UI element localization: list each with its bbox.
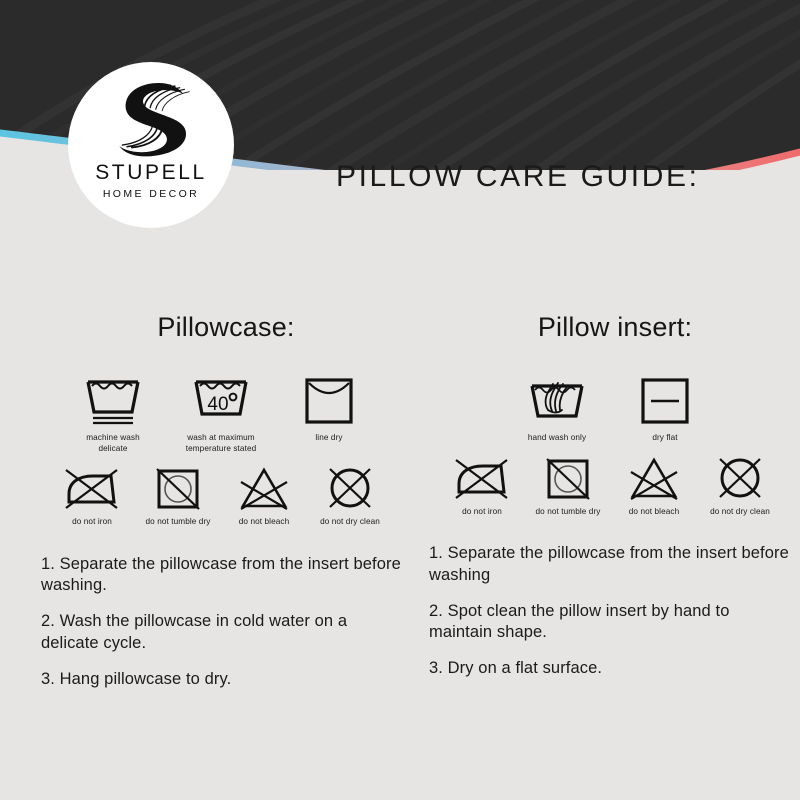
step-item: 1. Separate the pillowcase from the inse…: [429, 543, 797, 587]
care-icon-do-not-bleach: do not bleach: [225, 466, 303, 528]
do-not-iron-icon: [453, 456, 511, 502]
care-icon-line-dry: line dry: [286, 374, 372, 444]
do-not-bleach-icon: [237, 466, 291, 512]
machine-wash-delicate-icon: [82, 374, 144, 426]
icon-row-primary-pillowcase: machine wash delicate 40 wash at maximum…: [35, 374, 407, 454]
care-icon-do-not-dry-clean: do not dry clean: [311, 466, 389, 528]
page-title: PILLOW CARE GUIDE:: [336, 160, 700, 194]
do-not-iron-icon: [63, 466, 121, 512]
step-item: 3. Dry on a flat surface.: [429, 658, 797, 680]
care-icon-label: do not bleach: [239, 517, 289, 528]
care-icon-machine-wash-delicate: machine wash delicate: [70, 374, 156, 454]
do-not-dry-clean-icon: [714, 456, 766, 502]
care-icon-do-not-tumble-dry: do not tumble dry: [529, 456, 607, 518]
section-pillow-insert: Pillow insert: hand wash only: [425, 312, 797, 694]
steps-pillowcase: 1. Separate the pillowcase from the inse…: [35, 554, 407, 691]
care-icon-dry-flat: dry flat: [622, 374, 708, 444]
care-icon-label: do not dry clean: [710, 507, 770, 518]
icon-row-primary-insert: hand wash only dry flat: [425, 374, 797, 444]
care-icon-label: do not iron: [72, 517, 112, 528]
dry-flat-icon: [637, 374, 693, 426]
icon-row-secondary-insert: do not iron do not tumble dry do not ble…: [425, 456, 797, 518]
stupell-swoosh-logo-icon: [103, 79, 199, 157]
care-icon-do-not-tumble-dry: do not tumble dry: [139, 466, 217, 528]
do-not-tumble-dry-icon: [152, 466, 204, 512]
care-icon-label: do not dry clean: [320, 517, 380, 528]
icon-row-secondary-pillowcase: do not iron do not tumble dry do not ble…: [35, 466, 407, 528]
care-icon-wash-max-temperature: 40 wash at maximum temperature stated: [178, 374, 264, 454]
logo-badge: STUPELL HOME DECOR: [68, 62, 234, 228]
care-icon-label: dry flat: [652, 433, 677, 444]
pillow-care-guide-page: STUPELL HOME DECOR PILLOW CARE GUIDE: Pi…: [0, 0, 800, 800]
section-pillowcase: Pillowcase: machine wash delicate 40: [35, 312, 407, 704]
care-icon-label: do not tumble dry: [536, 507, 601, 518]
logo-name: STUPELL: [95, 162, 207, 183]
care-icon-do-not-iron: do not iron: [53, 466, 131, 528]
do-not-bleach-icon: [627, 456, 681, 502]
care-icon-do-not-bleach: do not bleach: [615, 456, 693, 518]
steps-pillow-insert: 1. Separate the pillowcase from the inse…: [425, 543, 797, 680]
care-icon-label: do not tumble dry: [146, 517, 211, 528]
care-icon-label: machine wash delicate: [86, 433, 140, 454]
care-icon-label: wash at maximum temperature stated: [186, 433, 257, 454]
step-item: 1. Separate the pillowcase from the inse…: [41, 554, 407, 598]
care-icon-hand-wash-only: hand wash only: [514, 374, 600, 444]
step-item: 3. Hang pillowcase to dry.: [41, 669, 407, 691]
do-not-dry-clean-icon: [324, 466, 376, 512]
care-icon-do-not-iron: do not iron: [443, 456, 521, 518]
logo-tagline: HOME DECOR: [103, 189, 199, 200]
care-icon-label: do not iron: [462, 507, 502, 518]
wash-max-temperature-icon: 40: [190, 374, 252, 426]
section-heading-pillowcase: Pillowcase:: [35, 312, 407, 352]
care-icon-label: do not bleach: [629, 507, 679, 518]
care-icon-label: hand wash only: [528, 433, 586, 444]
step-item: 2. Spot clean the pillow insert by hand …: [429, 601, 797, 645]
step-item: 2. Wash the pillowcase in cold water on …: [41, 611, 407, 655]
wash-temperature-value: 40: [207, 394, 228, 415]
section-heading-pillow-insert: Pillow insert:: [425, 312, 797, 352]
line-dry-icon: [301, 374, 357, 426]
care-icon-do-not-dry-clean: do not dry clean: [701, 456, 779, 518]
care-icon-label: line dry: [315, 433, 342, 444]
hand-wash-only-icon: [526, 374, 588, 426]
do-not-tumble-dry-icon: [542, 456, 594, 502]
